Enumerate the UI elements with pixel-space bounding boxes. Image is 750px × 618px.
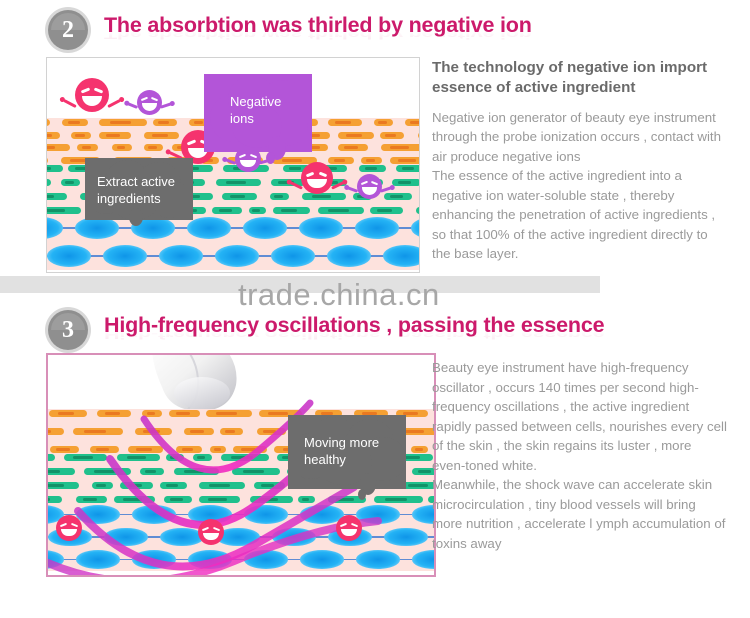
collagen-dash xyxy=(46,132,60,139)
collagen-dash xyxy=(153,119,177,126)
collagen-dash xyxy=(384,193,411,200)
collagen-dash xyxy=(46,193,67,200)
section-2-text-body: Negative ion generator of beauty eye ins… xyxy=(432,108,728,264)
collagen-dash xyxy=(46,165,63,172)
collagen-dash xyxy=(328,157,354,164)
section-3-title-reflection: High-frequency oscillations , passing th… xyxy=(104,327,604,341)
cell-smiley xyxy=(336,515,362,541)
negative-ions-bubble: Negative ions xyxy=(204,74,312,152)
basal-cell-lens xyxy=(75,217,119,239)
moving-more-healthy-label: Moving more healthy xyxy=(304,435,400,469)
collagen-dash xyxy=(270,193,289,200)
collagen-dash xyxy=(318,207,365,214)
basal-layer xyxy=(47,214,419,270)
ion-smiley xyxy=(137,90,162,115)
ion-smiley xyxy=(75,78,109,112)
section-3-number-badge: 3 xyxy=(48,310,88,350)
basal-cell-lens xyxy=(271,245,315,267)
section-3-header: 3 High-frequency oscillations , passing … xyxy=(0,308,750,354)
collagen-dash xyxy=(374,119,394,126)
collagen-dash xyxy=(77,144,99,151)
collagen-dash xyxy=(46,207,81,214)
collagen-dash xyxy=(392,179,420,186)
section-2-title-reflection: The absorbtion was thirled by negative i… xyxy=(104,27,532,41)
negative-ions-bubble-label: Negative ions xyxy=(230,94,302,128)
extract-active-ingredients-label: Extract active ingredients xyxy=(97,174,189,208)
basal-cell-lens xyxy=(215,245,259,267)
collagen-dash xyxy=(222,193,257,200)
section-3-text-body: Beauty eye instrument have high-frequenc… xyxy=(432,358,728,553)
section-2-header: 2 The absorbtion was thirled by negative… xyxy=(0,8,750,54)
section-3-text: Beauty eye instrument have high-frequenc… xyxy=(432,358,728,553)
collagen-dash xyxy=(61,179,79,186)
collagen-dash xyxy=(99,132,130,139)
collagen-dash xyxy=(144,144,163,151)
collagen-dash xyxy=(144,132,179,139)
collagen-dash xyxy=(46,144,70,151)
cell-smiley xyxy=(56,515,82,541)
collagen-dash xyxy=(396,165,420,172)
basal-cell-lens xyxy=(46,217,63,239)
collagen-dash xyxy=(418,132,421,139)
skin-diagram-2: Negative ions Extract active ingredients xyxy=(47,58,419,272)
collagen-dash xyxy=(273,207,310,214)
ion-smiley xyxy=(357,174,382,199)
collagen-dash xyxy=(405,119,420,126)
section-2-number-badge: 2 xyxy=(48,10,88,50)
collagen-dash xyxy=(338,132,375,139)
collagen-dash xyxy=(62,119,88,126)
section-2-text-heading: The technology of negative ion import es… xyxy=(432,58,728,99)
collagen-dash xyxy=(249,207,266,214)
basal-lenses xyxy=(47,214,419,270)
section-3-illustration: Moving more healthy xyxy=(46,353,436,577)
collagen-dash xyxy=(112,144,131,151)
basal-cell-lens xyxy=(103,245,147,267)
collagen-dash xyxy=(390,157,420,164)
basal-cell-lens xyxy=(299,217,343,239)
extract-active-ingredients-bubble: Extract active ingredients xyxy=(85,158,193,220)
basal-cell-lens xyxy=(411,217,420,239)
skin-diagram-3: Moving more healthy xyxy=(48,355,434,575)
collagen-dash xyxy=(46,157,48,164)
section-2-text: The technology of negative ion import es… xyxy=(432,58,728,264)
collagen-dash xyxy=(302,193,346,200)
collagen-dash xyxy=(71,132,92,139)
section-2-illustration: Negative ions Extract active ingredients xyxy=(46,57,420,273)
basal-cell-lens xyxy=(243,217,287,239)
basal-cell-lens xyxy=(187,217,231,239)
basal-cell-lens xyxy=(383,245,420,267)
collagen-dash xyxy=(46,179,51,186)
basal-cell-lens xyxy=(159,245,203,267)
collagen-dash xyxy=(338,144,369,151)
infographic-page: 2 The absorbtion was thirled by negative… xyxy=(0,0,750,618)
basal-cell-lens xyxy=(47,245,91,267)
collagen-dash xyxy=(99,119,147,126)
collagen-dash xyxy=(359,165,386,172)
collagen-dash xyxy=(416,207,420,214)
collagen-dash xyxy=(370,207,403,214)
basal-cell-lens xyxy=(355,217,399,239)
collagen-dash xyxy=(46,119,50,126)
moving-more-healthy-bubble: Moving more healthy xyxy=(288,415,406,489)
ion-smiley xyxy=(301,162,333,194)
collagen-dash xyxy=(361,157,382,164)
basal-cell-lens xyxy=(327,245,371,267)
collagen-dash xyxy=(381,144,421,151)
cell-smiley xyxy=(198,519,224,545)
collagen-dash xyxy=(380,132,404,139)
collagen-dash xyxy=(212,207,242,214)
collagen-dash xyxy=(328,119,363,126)
collagen-dash xyxy=(216,179,261,186)
